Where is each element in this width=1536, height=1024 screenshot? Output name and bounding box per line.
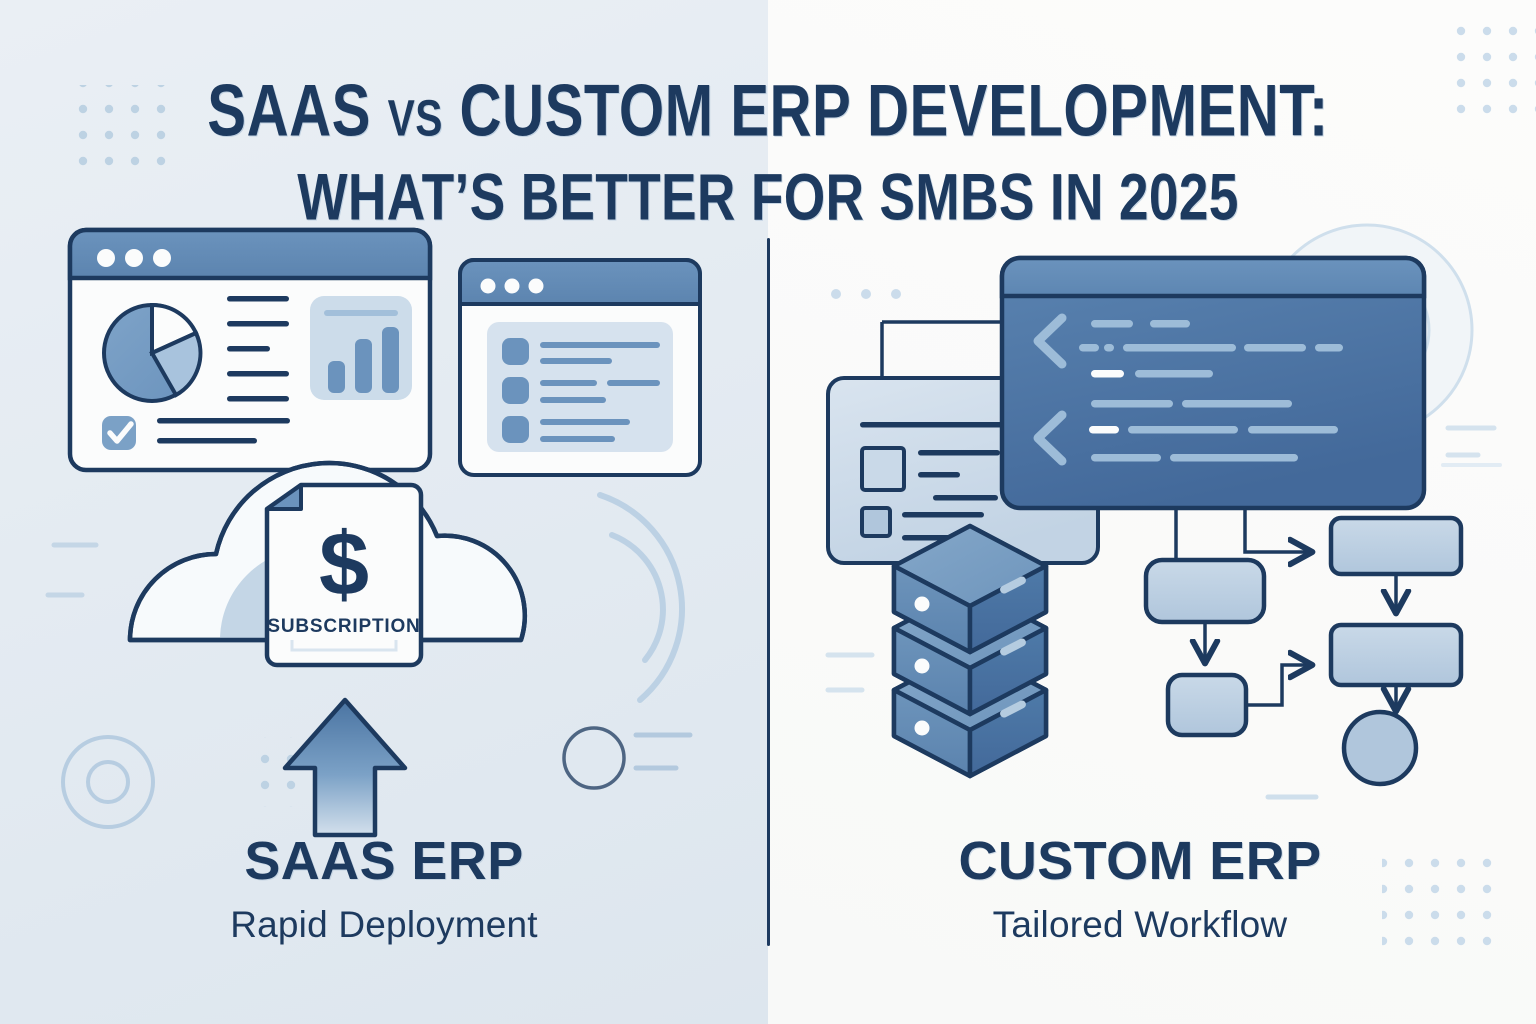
subscription-label: SUBSCRIPTION bbox=[267, 616, 420, 637]
window-dot-2 bbox=[505, 279, 520, 294]
flow-node-a bbox=[1331, 518, 1461, 574]
subscription-document: $ SUBSCRIPTION bbox=[267, 485, 421, 665]
flow-node-b bbox=[1146, 560, 1264, 622]
server-led bbox=[915, 597, 930, 612]
list-window bbox=[460, 260, 700, 475]
flow-arrow-d-c bbox=[1246, 665, 1311, 705]
left-panel-illustration: $ SUBSCRIPTION bbox=[60, 220, 760, 820]
checkbox-row bbox=[102, 416, 136, 450]
title-line-1: SAAS VS CUSTOM ERP DEVELOPMENT: bbox=[23, 72, 1513, 149]
infographic-canvas: SAAS VS CUSTOM ERP DEVELOPMENT: WHAT’S B… bbox=[0, 0, 1536, 1024]
page-title: SAAS VS CUSTOM ERP DEVELOPMENT: WHAT’S B… bbox=[0, 72, 1536, 221]
title-custom-erp: CUSTOM ERP DEVELOPMENT: bbox=[460, 70, 1329, 152]
server-led bbox=[915, 721, 930, 736]
server-led bbox=[915, 659, 930, 674]
pie-chart bbox=[104, 305, 200, 401]
right-caption: CUSTOM ERP Tailored Workflow bbox=[860, 830, 1420, 946]
right-panel-illustration bbox=[810, 250, 1490, 820]
up-arrow bbox=[285, 700, 405, 835]
title-vs: VS bbox=[388, 89, 443, 146]
bar-2 bbox=[355, 339, 372, 393]
left-caption: SAAS ERP Rapid Deployment bbox=[104, 830, 664, 946]
bar-1 bbox=[328, 361, 345, 393]
title-line-2: WHAT’S BETTER FOR SMBS IN 2025 bbox=[23, 163, 1513, 232]
dashboard-window bbox=[70, 230, 430, 470]
flowchart bbox=[1146, 508, 1461, 784]
code-editor-window bbox=[1002, 258, 1424, 508]
right-caption-subtitle: Tailored Workflow bbox=[860, 904, 1420, 946]
window-dot-2 bbox=[125, 249, 143, 267]
window-dot-3 bbox=[153, 249, 171, 267]
bar-chart-widget bbox=[310, 296, 412, 400]
flow-node-c bbox=[1331, 625, 1461, 685]
dollar-sign: $ bbox=[319, 515, 369, 615]
flow-terminal-circle bbox=[1344, 712, 1416, 784]
server-stack bbox=[894, 526, 1046, 776]
bar-3 bbox=[382, 327, 399, 393]
window-dot-1 bbox=[481, 279, 496, 294]
flow-arrow-to-node-a bbox=[1245, 508, 1311, 552]
window-dot-3 bbox=[529, 279, 544, 294]
title-saas: SAAS bbox=[207, 70, 371, 152]
right-caption-title: CUSTOM ERP bbox=[860, 830, 1420, 892]
window-dot-1 bbox=[97, 249, 115, 267]
left-caption-subtitle: Rapid Deployment bbox=[104, 904, 664, 946]
left-caption-title: SAAS ERP bbox=[104, 830, 664, 892]
flow-node-d bbox=[1168, 675, 1246, 735]
